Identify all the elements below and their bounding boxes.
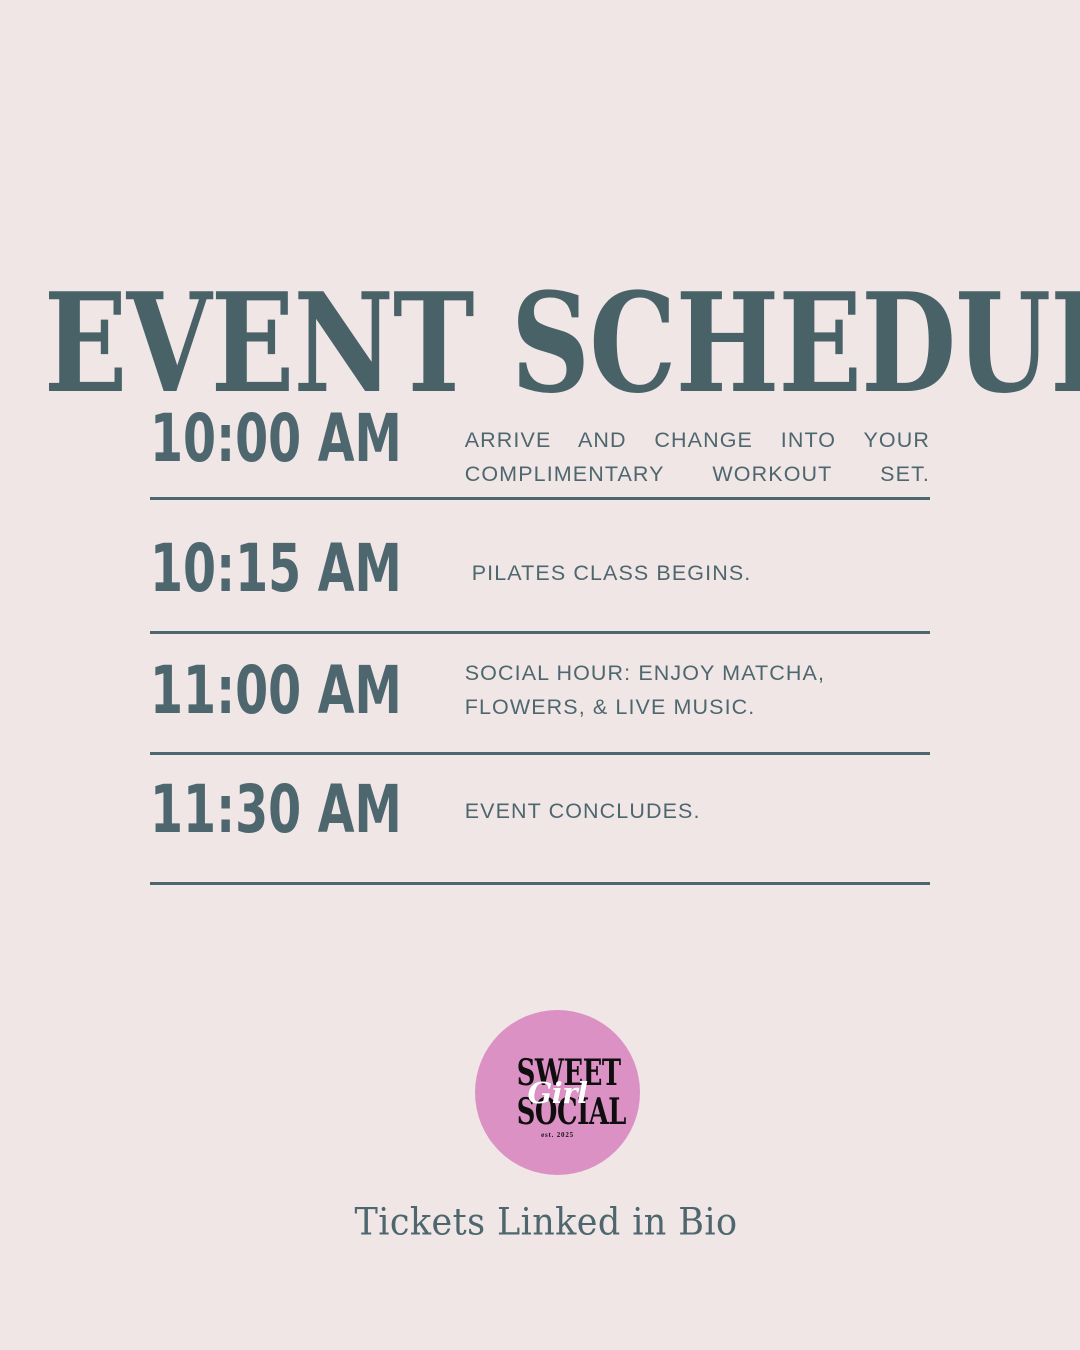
brand-logo-lockup: SWEET Girl SOCIAL est. 2025 — [510, 1039, 606, 1147]
footer-cta-text: Tickets Linked in Bio — [355, 1202, 738, 1244]
schedule-time: 10:00 AM — [150, 396, 402, 472]
schedule-time: 11:00 AM — [150, 634, 402, 724]
schedule-row: 10:15 AM PILATES CLASS BEGINS. — [150, 500, 930, 634]
brand-logo-script-word: Girl — [510, 1079, 606, 1108]
schedule-description: PILATES CLASS BEGINS. — [465, 500, 930, 591]
brand-logo-badge: SWEET Girl SOCIAL est. 2025 — [475, 1010, 640, 1175]
brand-logo-container: SWEET Girl SOCIAL est. 2025 — [0, 1010, 1080, 1175]
schedule-row: 10:00 AM ARRIVE AND CHANGE INTO YOUR COM… — [150, 396, 930, 500]
page-title: EVENT SCHEDULE — [44, 275, 1080, 412]
schedule-time: 11:30 AM — [150, 755, 402, 843]
schedule-description: SOCIAL HOUR: ENJOY MATCHA, FLOWERS, & LI… — [465, 634, 930, 725]
schedule-list: 10:00 AM ARRIVE AND CHANGE INTO YOUR COM… — [150, 396, 930, 885]
event-schedule-poster: EVENT SCHEDULE 10:00 AM ARRIVE AND CHANG… — [0, 0, 1080, 1350]
schedule-time: 10:15 AM — [150, 500, 402, 602]
schedule-description: EVENT CONCLUDES. — [465, 755, 930, 829]
schedule-row: 11:00 AM SOCIAL HOUR: ENJOY MATCHA, FLOW… — [150, 634, 930, 755]
schedule-row: 11:30 AM EVENT CONCLUDES. — [150, 755, 930, 885]
footer-cta-container: Tickets Linked in Bio — [0, 1203, 1080, 1243]
brand-logo-established: est. 2025 — [510, 1131, 606, 1139]
